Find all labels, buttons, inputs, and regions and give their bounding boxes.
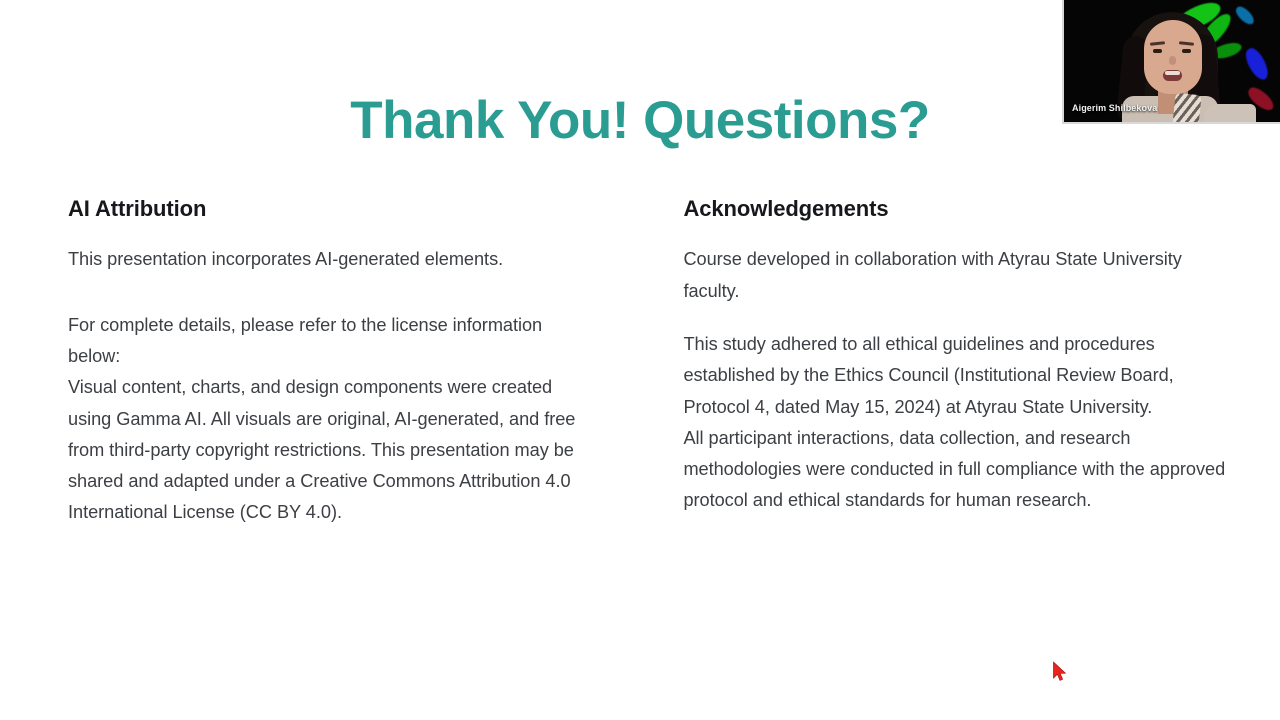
speaker-collar-pattern <box>1172 93 1201 122</box>
column-ai-attribution: AI Attribution This presentation incorpo… <box>68 196 625 529</box>
video-participant-tile[interactable]: Aigerim Shilbekova <box>1062 0 1280 124</box>
speaker-shoulder <box>1204 104 1256 122</box>
speaker-eye-right <box>1182 49 1191 53</box>
column-acknowledgements: Acknowledgements Course developed in col… <box>671 196 1228 529</box>
paragraph-ai-generated-elements: This presentation incorporates AI-genera… <box>68 244 591 275</box>
speaker-eye-left <box>1153 49 1162 53</box>
paragraph-ethics-approval: This study adhered to all ethical guidel… <box>683 329 1228 423</box>
column-heading-ai-attribution: AI Attribution <box>68 196 591 222</box>
background-ribbon-blue <box>1241 45 1273 82</box>
speaker-teeth <box>1165 71 1180 75</box>
participant-name-label: Aigerim Shilbekova <box>1072 103 1157 113</box>
paragraph-license-info-intro: For complete details, please refer to th… <box>68 310 591 373</box>
paragraph-license-details: Visual content, charts, and design compo… <box>68 372 591 528</box>
speaker-nose <box>1169 56 1176 65</box>
paragraph-course-collaboration: Course developed in collaboration with A… <box>683 244 1228 307</box>
column-heading-acknowledgements: Acknowledgements <box>683 196 1228 222</box>
paragraph-participant-compliance: All participant interactions, data colle… <box>683 423 1228 517</box>
background-ribbon-teal <box>1233 4 1257 27</box>
slide-body-columns: AI Attribution This presentation incorpo… <box>0 196 1280 529</box>
